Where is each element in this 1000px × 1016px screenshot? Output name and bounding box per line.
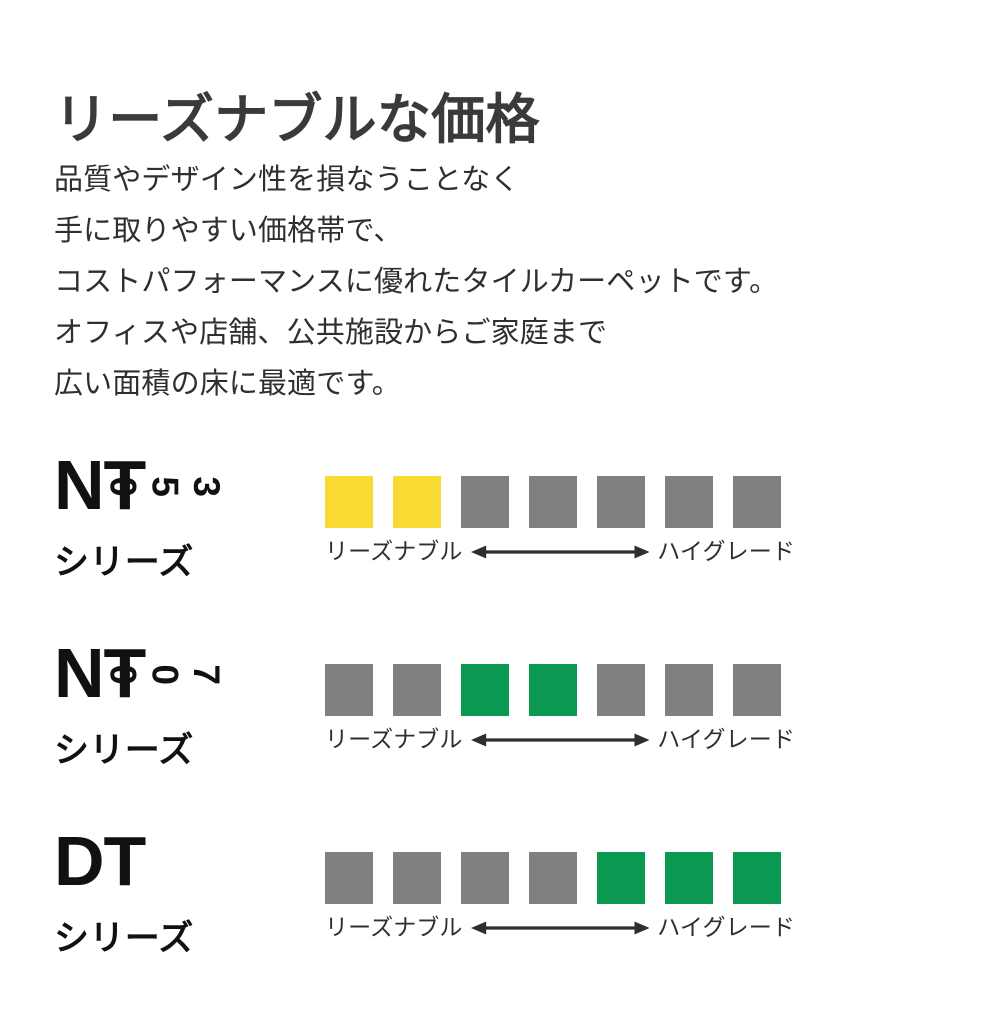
series-name: NT 700 xyxy=(54,640,294,710)
swatch-strip xyxy=(325,664,795,716)
series-number: 350 xyxy=(147,452,182,522)
double-arrow-icon xyxy=(471,732,650,748)
swatch xyxy=(393,664,441,716)
description-line: オフィスや店舗、公共施設からご家庭まで xyxy=(54,308,778,359)
series-label-nt700: NT 700 シリーズ xyxy=(54,640,294,773)
swatch xyxy=(461,664,509,716)
double-arrow-icon xyxy=(471,544,650,560)
swatch xyxy=(529,852,577,904)
series-name: DT xyxy=(54,828,294,898)
series-label-nt350: NT 350 シリーズ xyxy=(54,452,294,585)
grade-scale: リーズナブル ハイグレード xyxy=(325,664,795,751)
swatch xyxy=(461,476,509,528)
swatch xyxy=(461,852,509,904)
legend-high-label: ハイグレード xyxy=(657,540,795,563)
series-row: DT シリーズ リーズナブル xyxy=(0,828,1000,1016)
series-suffix: シリーズ xyxy=(54,910,294,961)
swatch xyxy=(597,664,645,716)
scale-legend: リーズナブル ハイグレード xyxy=(325,540,795,563)
description-paragraph: 品質やデザイン性を損なうことなく 手に取りやすい価格帯で、 コストパフォーマンス… xyxy=(54,155,778,410)
swatch xyxy=(665,664,713,716)
description-line: 手に取りやすい価格帯で、 xyxy=(54,206,778,257)
double-arrow-icon xyxy=(471,920,650,936)
legend-high-label: ハイグレード xyxy=(657,728,795,751)
legend-low-label: リーズナブル xyxy=(325,540,463,563)
swatch xyxy=(529,664,577,716)
swatch xyxy=(665,476,713,528)
swatch xyxy=(597,852,645,904)
swatch xyxy=(529,476,577,528)
swatch xyxy=(597,476,645,528)
swatch xyxy=(733,476,781,528)
swatch xyxy=(325,664,373,716)
description-line: コストパフォーマンスに優れたタイルカーペットです。 xyxy=(54,257,778,308)
description-line: 品質やデザイン性を損なうことなく xyxy=(54,155,778,206)
series-suffix: シリーズ xyxy=(54,534,294,585)
legend-low-label: リーズナブル xyxy=(325,916,463,939)
series-name: NT 350 xyxy=(54,452,294,522)
page-title: リーズナブルな価格 xyxy=(54,93,540,147)
series-code: DT xyxy=(54,828,145,894)
scale-legend: リーズナブル ハイグレード xyxy=(325,728,795,751)
series-row: NT 350 シリーズ リーズナブル xyxy=(0,452,1000,640)
grade-scale: リーズナブル ハイグレード xyxy=(325,476,795,563)
swatch xyxy=(733,664,781,716)
product-grade-infographic: リーズナブルな価格 品質やデザイン性を損なうことなく 手に取りやすい価格帯で、 … xyxy=(0,0,1000,1000)
description-line: 広い面積の床に最適です。 xyxy=(54,359,778,410)
legend-low-label: リーズナブル xyxy=(325,728,463,751)
series-number: 700 xyxy=(147,640,182,710)
series-label-dt: DT シリーズ xyxy=(54,828,294,961)
series-row: NT 700 シリーズ リーズナブル xyxy=(0,640,1000,828)
swatch xyxy=(325,852,373,904)
series-suffix: シリーズ xyxy=(54,722,294,773)
swatch xyxy=(733,852,781,904)
grade-scale: リーズナブル ハイグレード xyxy=(325,852,795,939)
swatch xyxy=(325,476,373,528)
swatch xyxy=(665,852,713,904)
swatch-strip xyxy=(325,476,795,528)
swatch-strip xyxy=(325,852,795,904)
legend-high-label: ハイグレード xyxy=(657,916,795,939)
swatch xyxy=(393,476,441,528)
swatch xyxy=(393,852,441,904)
series-list: NT 350 シリーズ リーズナブル xyxy=(0,452,1000,1016)
scale-legend: リーズナブル ハイグレード xyxy=(325,916,795,939)
